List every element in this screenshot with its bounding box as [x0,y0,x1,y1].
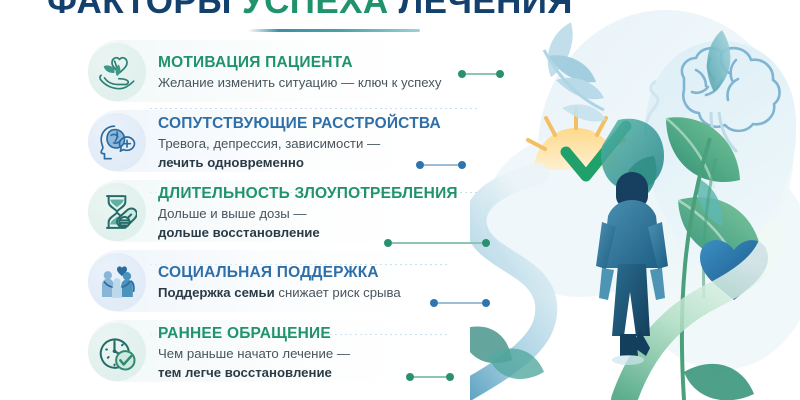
item-line-1: Чем раньше начато лечение — [158,345,350,362]
connector-line [430,298,490,308]
connector-bar [466,73,496,75]
connector-dot [458,70,466,78]
list-item[interactable]: МОТИВАЦИЯ ПАЦИЕНТА Желание изменить ситу… [0,38,520,106]
connector-dot [384,239,392,247]
item-heading: ДЛИТЕЛЬНОСТЬ ЗЛОУПОТРЕБЛЕНИЯ [158,184,458,203]
item-line-1: Дольше и выше дозы — [158,205,458,222]
connector-bar [392,242,482,244]
title-part-1: ФАКТОРЫ [47,0,242,21]
factors-list: МОТИВАЦИЯ ПАЦИЕНТА Желание изменить ситу… [0,38,520,388]
hand-plant-heart-icon [88,43,146,101]
hourglass-pills-icon [88,183,146,241]
connector-dot [482,239,490,247]
connector-line [384,238,490,248]
clock-check-icon [88,323,146,381]
connector-dot [446,373,454,381]
item-heading: РАННЕЕ ОБРАЩЕНИЕ [158,324,350,343]
connector-line [406,372,454,382]
row-text: РАННЕЕ ОБРАЩЕНИЕ Чем раньше начато лечен… [158,324,350,381]
item-heading: СОЦИАЛЬНАЯ ПОДДЕРЖКА [158,263,401,282]
item-line-2: лечить одновременно [158,154,441,171]
title-divider [248,29,420,32]
row-text: СОЦИАЛЬНАЯ ПОДДЕРЖКА Поддержка семьи сни… [158,263,401,301]
connector-line [458,69,504,79]
row-text: ДЛИТЕЛЬНОСТЬ ЗЛОУПОТРЕБЛЕНИЯ Дольше и вы… [158,184,458,241]
connector-bar [414,376,446,378]
connector-dot [458,161,466,169]
item-line-1: Поддержка семьи снижает риск срыва [158,284,401,301]
connector-bar [438,302,482,304]
row-text: МОТИВАЦИЯ ПАЦИЕНТА Желание изменить ситу… [158,53,441,91]
head-brain-plus-icon [88,113,146,171]
item-line-1: Тревога, депрессия, зависимости — [158,135,441,152]
connector-line [416,160,466,170]
connector-dot [406,373,414,381]
item-line-1-suffix: снижает риск срыва [275,285,401,300]
item-heading: МОТИВАЦИЯ ПАЦИЕНТА [158,53,441,72]
connector-dot [416,161,424,169]
item-line-1: Желание изменить ситуацию — ключ к успех… [158,74,441,91]
title-part-2: УСПЕХА [242,0,399,21]
connector-dot [430,299,438,307]
connector-dot [482,299,490,307]
item-heading: СОПУТСТВУЮЩИЕ РАССТРОЙСТВА [158,114,441,133]
page-title: ФАКТОРЫ УСПЕХА ЛЕЧЕНИЯ [0,0,620,20]
connector-bar [424,164,458,166]
connector-dot [496,70,504,78]
family-heart-icon [88,253,146,311]
row-text: СОПУТСТВУЮЩИЕ РАССТРОЙСТВА Тревога, депр… [158,114,441,171]
title-part-3: ЛЕЧЕНИЯ [399,0,573,21]
item-line-2: тем легче восстановление [158,364,350,381]
list-item[interactable]: ДЛИТЕЛЬНОСТЬ ЗЛОУПОТРЕБЛЕНИЯ Дольше и вы… [0,178,520,246]
